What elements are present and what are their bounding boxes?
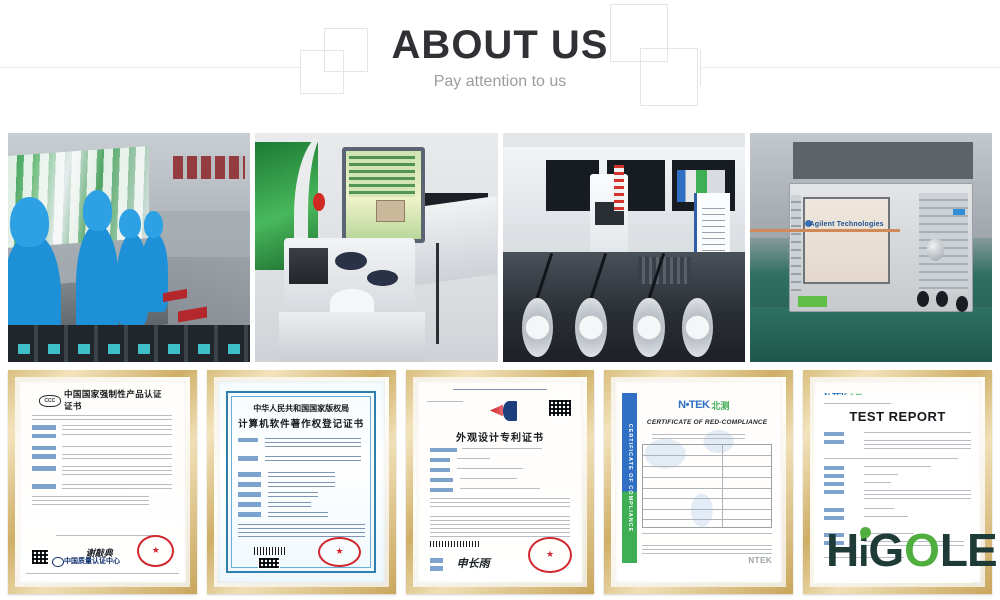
certificate-body-lines <box>62 466 172 478</box>
ntek-logo: N•TEK 北测 <box>665 397 742 413</box>
logo-letter-h: H <box>826 527 857 573</box>
photo-smt-inspection-machine <box>255 133 497 362</box>
certificate-footer-line <box>26 573 179 576</box>
field-label <box>430 448 457 452</box>
photo2-panel-oval <box>335 252 366 270</box>
certificate-body-lines <box>864 466 931 470</box>
field-label <box>824 482 844 486</box>
certificate-body-lines <box>265 438 362 448</box>
field-label <box>824 516 844 520</box>
certificate-paper: CCC 中国国家强制性产品认证证书 <box>19 381 186 583</box>
table-col-divider <box>722 445 723 528</box>
photo1-back-wall <box>173 156 246 179</box>
photo1-worker-cap <box>83 190 112 231</box>
photo4-rotary-knob <box>927 238 944 261</box>
field-label <box>238 512 261 517</box>
certificate-body-lines <box>864 516 907 520</box>
field-label <box>238 502 261 507</box>
compliance-table <box>642 444 772 529</box>
ornamental-top-band <box>453 389 546 393</box>
table-row-divider <box>643 466 771 467</box>
photo-assembly-line <box>8 133 250 362</box>
field-label <box>238 492 261 497</box>
certificate-body-lines <box>268 502 311 507</box>
photo-pick-and-place-feeders <box>503 133 745 362</box>
certificate-directive-line <box>652 434 745 440</box>
official-seal: ★ <box>528 537 571 573</box>
page-subtitle: Pay attention to us <box>0 70 1000 94</box>
certificate-body-lines <box>32 415 172 423</box>
seal-star-icon: ★ <box>546 550 554 559</box>
certificate-paper: 中华人民共和国国家版权局 计算机软件著作权登记证书 <box>218 381 385 583</box>
certificate-sidebar: CERTIFICATE OF COMPLIANCE <box>622 393 637 563</box>
photo3-tape-reel <box>633 298 664 358</box>
certificate-body-lines <box>864 490 971 502</box>
table-row-divider <box>643 488 771 489</box>
photo3-tape-reel <box>575 298 606 358</box>
photo1-worker-cap <box>10 197 49 247</box>
certificate-body-lines <box>457 468 524 472</box>
table-row-divider <box>643 498 771 499</box>
photo4-workbench <box>750 307 992 362</box>
official-seal: ★ <box>318 537 361 567</box>
ntek-footer-mark: NTEK <box>748 556 772 565</box>
qr-code-icon <box>258 557 280 569</box>
table-row-divider <box>643 477 771 478</box>
certificate-software-copyright[interactable]: 中华人民共和国国家版权局 计算机软件著作权登记证书 <box>207 370 396 594</box>
photo2-control-pc <box>289 248 328 285</box>
field-label <box>824 490 844 494</box>
about-us-page: ABOUT US Pay attention to us <box>0 0 1000 600</box>
certificate-body-lines <box>457 458 490 462</box>
certificate-ntek-red-compliance[interactable]: CERTIFICATE OF COMPLIANCE N•TEK 北测 CERTI… <box>604 370 793 594</box>
certificate-body-lines <box>864 440 971 452</box>
cqc-logo-icon <box>52 557 64 567</box>
field-label <box>824 508 844 512</box>
certificate-body-lines <box>32 496 149 506</box>
certificate-note <box>430 516 570 538</box>
ntek-logo-text: N•TEK <box>678 399 709 411</box>
field-label <box>32 434 55 439</box>
qr-code-icon <box>548 399 571 417</box>
field-label <box>238 482 261 487</box>
certificate-title-line1: 中华人民共和国国家版权局 <box>228 403 375 414</box>
certificate-body-lines <box>62 446 172 451</box>
photo2-monitor-screen <box>346 151 420 239</box>
certificate-issuer: 中国质量认证中心 <box>64 555 154 567</box>
field-label <box>32 454 55 459</box>
field-label <box>430 458 450 462</box>
certificate-note <box>56 535 156 539</box>
certificate-body-lines <box>864 508 894 512</box>
photo2-machine-base <box>279 312 424 362</box>
certificate-paper: 外观设计专利证书 <box>417 381 584 583</box>
barcode <box>254 547 284 555</box>
photo1-product-trays <box>8 325 250 362</box>
logo-letter-g: G <box>868 527 903 573</box>
photo4-shelf <box>793 142 972 179</box>
certificate-paper: CERTIFICATE OF COMPLIANCE N•TEK 北测 CERTI… <box>615 381 782 583</box>
barcode <box>430 541 480 547</box>
certificate-mat: CCC 中国国家强制性产品认证证书 <box>15 377 190 587</box>
certificate-title: 中国国家强制性产品认证证书 <box>64 393 167 407</box>
certificate-body-lines <box>430 498 570 510</box>
ntek-logo-cn: 北测 <box>711 399 729 412</box>
certificate-mat: 外观设计专利证书 <box>413 377 588 587</box>
logo-letter-i: i <box>858 533 867 573</box>
certificate-body-lines <box>864 432 971 436</box>
certificate-number <box>427 401 464 405</box>
certificate-issuer-block <box>642 545 772 555</box>
seal-star-icon: ★ <box>336 547 344 556</box>
field-label <box>238 456 258 461</box>
field-label <box>32 466 55 471</box>
factory-photo-row: Agilent Technologies <box>8 133 992 362</box>
certificate-body-lines <box>460 478 517 482</box>
field-label <box>32 425 55 430</box>
certificate-frame: 中华人民共和国国家版权局 计算机软件著作权登记证书 <box>207 370 396 594</box>
higole-logo: H i G O LE 高乐 <box>826 527 1000 573</box>
certificate-body-lines <box>268 492 318 497</box>
page-header: ABOUT US Pay attention to us <box>0 0 1000 120</box>
certificate-frame: 外观设计专利证书 <box>406 370 595 594</box>
photo3-indicator-lights <box>614 165 624 211</box>
photo2-monitor <box>342 147 424 243</box>
page-title: ABOUT US <box>0 22 1000 68</box>
report-reference-line <box>824 403 891 407</box>
field-label <box>824 466 844 470</box>
qr-code-icon <box>31 549 49 565</box>
certificate-title: TEST REPORT <box>824 409 971 424</box>
field-label <box>824 432 844 436</box>
field-label <box>32 484 55 489</box>
photo1-worker-cap <box>119 209 141 239</box>
field-label <box>430 558 443 563</box>
ccc-mark-icon: CCC <box>39 395 61 407</box>
photo2-support-pole <box>436 243 439 344</box>
photo4-rf-cable <box>750 229 900 307</box>
certificate-frame: CCC 中国国家强制性产品认证证书 <box>8 370 197 594</box>
field-label <box>430 478 453 482</box>
certificate-body-lines <box>62 454 172 459</box>
certificate-body-lines <box>268 482 335 487</box>
signature: 申长雨 <box>457 555 490 571</box>
certificate-body-lines <box>62 425 172 430</box>
field-label <box>238 438 258 443</box>
table-footnote <box>642 533 772 537</box>
logo-letters-le: LE <box>940 527 997 573</box>
photo3-component-tray <box>638 257 691 284</box>
field-label <box>430 468 450 472</box>
certificate-title-line2: 计算机软件著作权登记证书 <box>228 416 375 430</box>
certificate-note <box>238 524 365 536</box>
field-label <box>32 446 55 451</box>
header-text-block: ABOUT US Pay attention to us <box>0 22 1000 94</box>
photo4-connector-port <box>956 296 968 312</box>
table-row-divider <box>643 509 771 510</box>
certificate-mat: 中华人民共和国国家版权局 计算机软件著作权登记证书 <box>214 377 389 587</box>
certificate-body-lines <box>460 488 540 492</box>
certificate-body-lines <box>864 482 891 486</box>
certificate-title: CERTIFICATE OF RED-COMPLIANCE <box>642 419 772 426</box>
logo-letter-o: O <box>904 527 939 573</box>
table-row-divider <box>643 455 771 456</box>
certificate-body-lines <box>462 448 542 452</box>
certificate-design-patent[interactable]: 外观设计专利证书 <box>406 370 595 594</box>
table-row-divider <box>643 519 771 520</box>
certificate-mat: CERTIFICATE OF COMPLIANCE N•TEK 北测 CERTI… <box>611 377 786 587</box>
photo4-connector-port <box>917 291 929 307</box>
photo4-blue-key <box>953 209 965 216</box>
sidebar-label: CERTIFICATE OF COMPLIANCE <box>627 424 633 533</box>
certificate-body-lines <box>62 484 172 489</box>
field-label <box>430 566 443 571</box>
certificate-frame: CERTIFICATE OF COMPLIANCE N•TEK 北测 CERTI… <box>604 370 793 594</box>
field-label <box>824 474 844 478</box>
certificate-body-lines <box>265 456 362 461</box>
cnipa-logo-icon <box>490 401 517 421</box>
certificate-body-lines <box>268 512 328 517</box>
photo-agilent-test-instrument: Agilent Technologies <box>750 133 992 362</box>
field-label <box>430 488 453 492</box>
certificate-body-lines <box>268 472 335 477</box>
certificate-body-lines <box>864 474 897 478</box>
certificate-body-lines <box>62 434 172 439</box>
field-label <box>824 440 844 444</box>
certificate-title: 外观设计专利证书 <box>427 429 574 444</box>
field-label <box>238 472 261 477</box>
certificate-note <box>824 458 957 462</box>
certificate-ccc[interactable]: CCC 中国国家强制性产品认证证书 <box>8 370 197 594</box>
photo1-worker-cap <box>144 211 163 238</box>
